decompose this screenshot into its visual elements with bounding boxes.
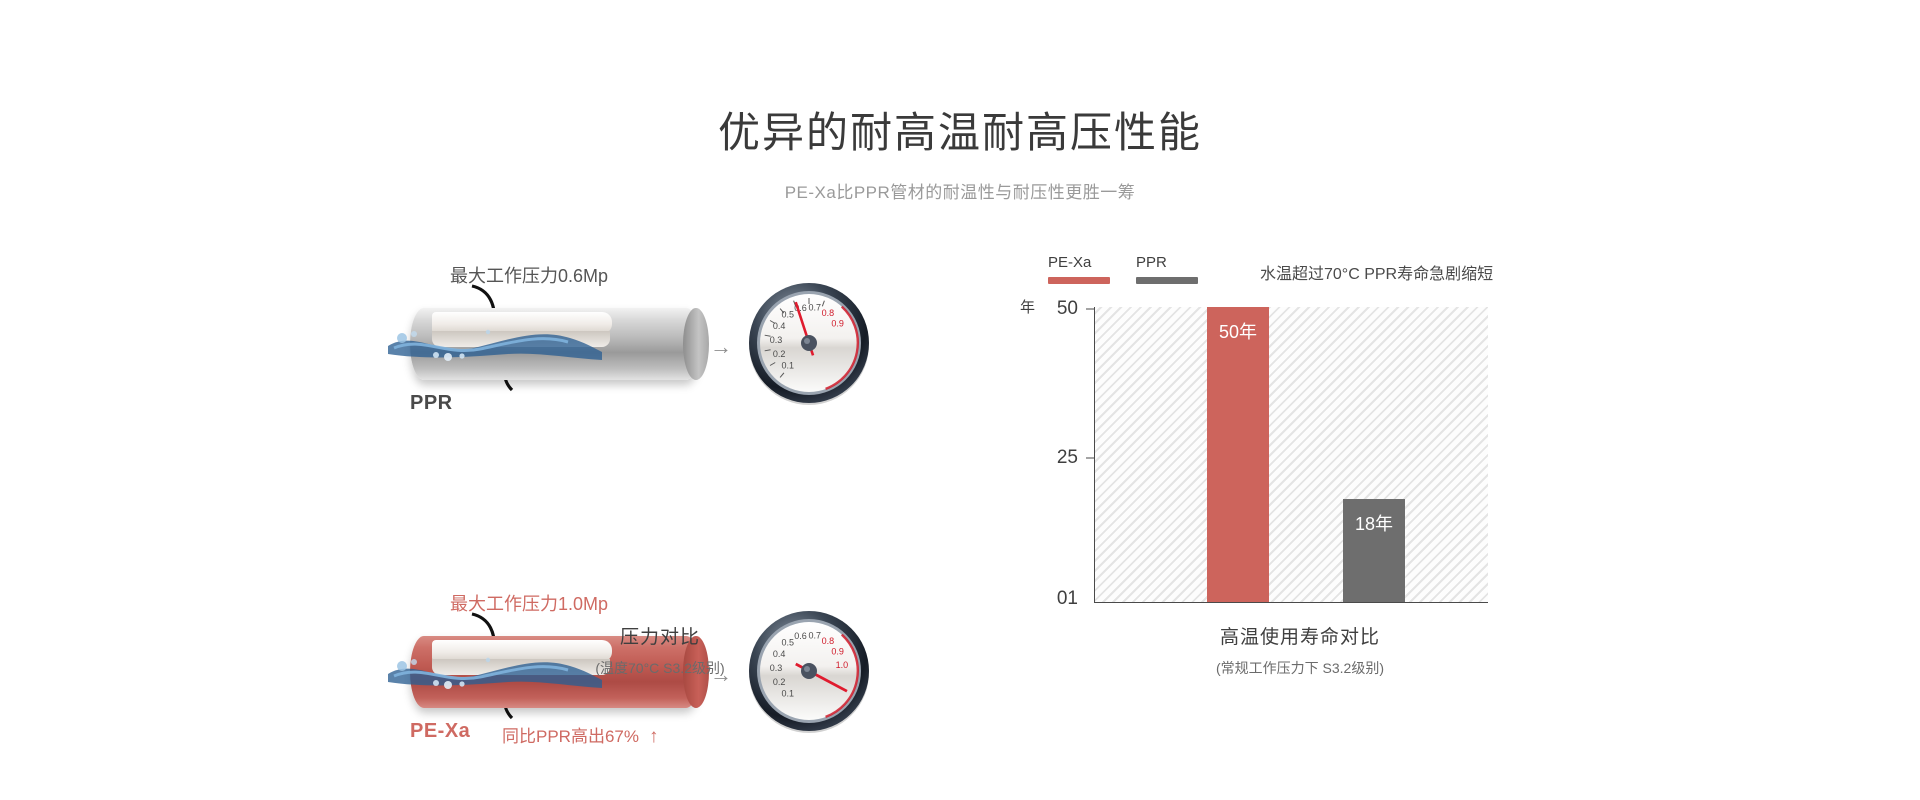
ppr-pipe-name: PPR [410,392,453,415]
chart-annotation: 水温超过70°C PPR寿命急剧缩短 [1260,260,1493,284]
chart-plot-area: 50年 18年 [1094,307,1488,603]
lifespan-caption: 高温使用寿命对比 (常规工作压力下 S3.2级别) [1020,622,1580,678]
lifespan-chart-panel: PE-Xa PPR 水温超过70°C PPR寿命急剧缩短 年 50 25 01 … [1020,255,1580,675]
svg-text:0.7: 0.7 [808,303,821,313]
ppr-pressure-label: 最大工作压力0.6Mp [450,262,608,288]
y-tick-50: 50 [1057,298,1078,320]
legend-label-pexa: PE-Xa [1048,255,1110,272]
svg-text:0.2: 0.2 [773,677,786,687]
bar-pexa[interactable]: 50年 [1207,307,1269,602]
pressure-caption-sub: (温度70°C S3.2级别) [380,658,940,678]
chart-plot-wrapper: 年 50 25 01 50年 18年 [1020,307,1488,603]
legend-swatch-pexa [1048,277,1110,284]
y-axis-unit-label: 年 [1020,296,1035,317]
bar-ppr[interactable]: 18年 [1343,499,1405,602]
svg-text:0.2: 0.2 [773,349,786,359]
svg-text:0.5: 0.5 [782,310,795,320]
pexa-pressure-label: 最大工作压力1.0Mp [450,590,608,616]
pexa-pipe-name: PE-Xa [410,720,470,743]
header: 优异的耐高温耐高压性能 PE-Xa比PPR管材的耐温性与耐压性更胜一筹 [0,110,1920,203]
bar-label-pexa: 50年 [1207,318,1269,344]
svg-text:0.1: 0.1 [782,688,795,698]
pressure-caption: 压力对比 (温度70°C S3.2级别) [380,622,940,678]
ppr-pressure-gauge: 0.1 0.2 0.3 0.4 0.5 0.6 0.7 0.8 0.9 [744,278,874,408]
ppr-pipe-cutaway-inner [432,331,610,347]
y-axis-tick-labels: 50 25 01 [1042,307,1086,603]
legend-item-ppr: PPR [1136,255,1198,284]
legend-swatch-ppr [1136,277,1198,284]
bar-label-ppr: 18年 [1343,510,1405,536]
svg-text:0.4: 0.4 [773,321,786,331]
svg-text:0.3: 0.3 [770,335,783,345]
ppr-flow-arrow: → [710,336,732,358]
y-tick-mark-50 [1086,309,1094,310]
svg-text:0.1: 0.1 [782,360,795,370]
y-tick-25: 25 [1057,447,1078,469]
page-title: 优异的耐高温耐高压性能 [0,110,1920,156]
pressure-caption-main: 压力对比 [380,622,940,649]
ppr-pipe-row: 最大工作压力0.6Mp [380,270,940,420]
up-arrow-icon: ↑ [649,726,659,747]
page-subtitle: PE-Xa比PPR管材的耐温性与耐压性更胜一筹 [0,178,1920,203]
infographic-page: 优异的耐高温耐高压性能 PE-Xa比PPR管材的耐温性与耐压性更胜一筹 最大工作… [0,0,1920,800]
lifespan-caption-sub: (常规工作压力下 S3.2级别) [1020,658,1580,678]
svg-text:0.9: 0.9 [831,319,844,329]
chart-legend: PE-Xa PPR [1048,255,1198,284]
lifespan-caption-main: 高温使用寿命对比 [1020,622,1580,649]
pexa-comparison-text: 同比PPR高出67%↑ [502,722,658,748]
y-tick-mark-25 [1086,458,1094,459]
pexa-comparison-label: 同比PPR高出67% [502,727,639,746]
y-tick-01: 01 [1057,588,1078,610]
ppr-pipe-end-cap [683,308,709,380]
ppr-pipe-graphic [410,308,700,380]
legend-label-ppr: PPR [1136,255,1198,272]
svg-text:0.8: 0.8 [822,308,835,318]
legend-item-pexa: PE-Xa [1048,255,1110,284]
